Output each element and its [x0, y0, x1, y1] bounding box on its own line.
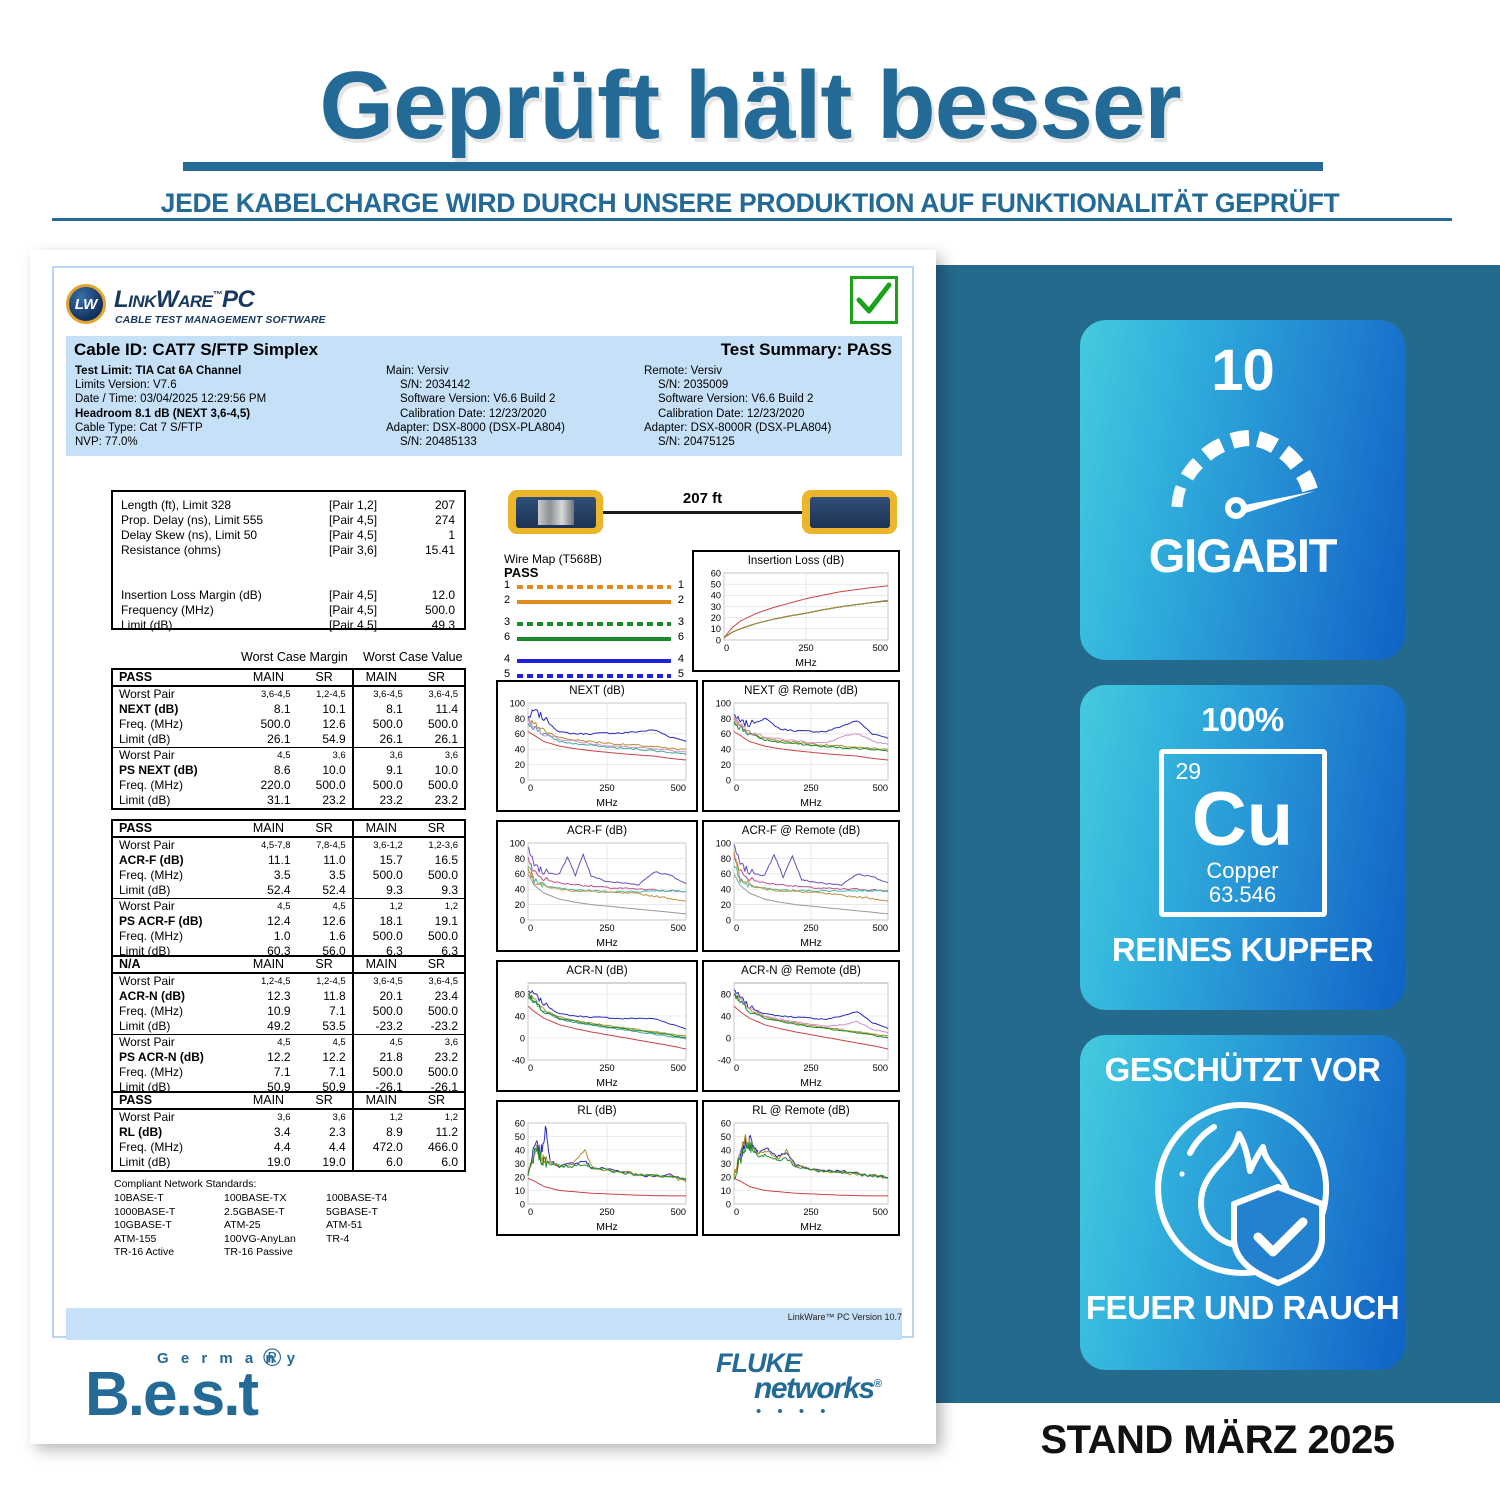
svg-text:40: 40: [515, 885, 525, 895]
col-sr-value: SR: [409, 820, 465, 837]
page-header: Geprüft hält besser JEDE KABELCHARGE WIR…: [0, 0, 1500, 230]
cell: 500.0: [409, 778, 465, 793]
gigabit-label: GIGABIT: [1080, 532, 1405, 579]
svg-text:MHz: MHz: [596, 797, 618, 809]
results-table-acrn: N/AMAINSRMAINSRWorst Pair1,2-4,51,2-4,53…: [111, 955, 466, 1097]
gigabit-value: 10: [1080, 342, 1405, 400]
svg-text:100: 100: [716, 838, 731, 848]
table-row: PS NEXT (dB)8.610.09.110.0: [112, 763, 465, 778]
test-summary-label: Test Summary: PASS: [721, 340, 892, 360]
info-line: Headroom 8.1 dB (NEXT 3,6-4,5): [75, 407, 375, 421]
cell: 26.1: [409, 732, 465, 748]
col-main-value: MAIN: [353, 1092, 409, 1109]
svg-text:MHz: MHz: [795, 657, 817, 669]
svg-text:40: 40: [721, 1011, 731, 1021]
best-wordmark: B.e.s.t: [85, 1364, 257, 1426]
table-row: Worst Pair4,5-7,87,8-4,53,6-1,21,2-3,6: [112, 837, 465, 853]
periodic-element-icon: 29 Cu Copper 63.546: [1159, 749, 1327, 917]
col-main-margin: MAIN: [240, 1092, 296, 1109]
summary-label: Limit (dB): [121, 618, 172, 632]
table-header-row: PASSMAINSRMAINSR: [112, 1092, 465, 1109]
summary-pair: [Pair 4,5]: [329, 618, 377, 632]
cell: 4,5: [297, 899, 353, 915]
summary-row: Length (ft), Limit 328[Pair 1,2]207: [113, 498, 464, 513]
svg-text:40: 40: [515, 1011, 525, 1021]
cell: 3.5: [297, 868, 353, 883]
cell: 500.0: [409, 1065, 465, 1080]
svg-text:20: 20: [515, 760, 525, 770]
svg-text:0: 0: [734, 923, 739, 933]
svg-text:250: 250: [803, 923, 818, 933]
cell: 1.0: [240, 929, 296, 944]
row-label: Worst Pair: [112, 686, 240, 702]
cell: 11.1: [240, 853, 296, 868]
row-label: Limit (dB): [112, 1019, 240, 1035]
results-table-rl: PASSMAINSRMAINSRWorst Pair3,63,61,21,2RL…: [111, 1091, 466, 1172]
fluke-networks-logo: FLUKE networks® • • • •: [708, 1348, 903, 1418]
svg-text:500: 500: [671, 923, 686, 933]
col-main-value: MAIN: [353, 956, 409, 973]
cell: 500.0: [353, 929, 409, 944]
status-badge: PASS: [112, 1092, 240, 1109]
cell: 500.0: [353, 868, 409, 883]
row-label: Freq. (MHz): [112, 1004, 240, 1019]
svg-text:40: 40: [721, 885, 731, 895]
cell: 500.0: [409, 717, 465, 732]
cell: 8.1: [353, 702, 409, 717]
wire-pin-left: 1: [504, 579, 510, 591]
info-line: Adapter: DSX-8000 (DSX-PLA804): [386, 421, 636, 435]
info-line: Software Version: V6.6 Build 2: [386, 392, 636, 406]
info-line: Limits Version: V7.6: [75, 378, 375, 392]
summary-value: 49.3: [393, 618, 455, 632]
svg-text:100: 100: [510, 698, 525, 708]
feature-card-fire[interactable]: GESCHÜTZT VOR FEUER UND RAUCH: [1080, 1035, 1405, 1370]
info-line: S/N: 2034142: [386, 378, 636, 392]
table-row: Worst Pair1,2-4,51,2-4,53,6-4,53,6-4,5: [112, 973, 465, 989]
cell: 8.9: [353, 1125, 409, 1140]
summary-pair: [Pair 4,5]: [329, 603, 377, 617]
wire-gap: [504, 647, 684, 654]
cell: 10.1: [297, 702, 353, 717]
table-row: RL (dB)3.42.38.911.2: [112, 1125, 465, 1140]
cell: 23.2: [409, 793, 465, 809]
row-label: PS NEXT (dB): [112, 763, 240, 778]
cell: 19.0: [240, 1155, 296, 1171]
table-row: Freq. (MHz)500.012.6500.0500.0: [112, 717, 465, 732]
cell: 12.2: [297, 1050, 353, 1065]
cell: 16.5: [409, 853, 465, 868]
cell: 4,5: [297, 1035, 353, 1051]
table-row: ACR-N (dB)12.311.820.123.4: [112, 989, 465, 1004]
svg-text:0: 0: [716, 635, 721, 645]
cell: 3,6: [409, 1035, 465, 1051]
cell: 54.9: [297, 732, 353, 748]
svg-text:0: 0: [726, 915, 731, 925]
copper-percent: 100%: [1080, 701, 1405, 739]
svg-text:20: 20: [515, 900, 525, 910]
col-main-value: MAIN: [353, 820, 409, 837]
cell: 23.2: [297, 793, 353, 809]
table-row: NEXT (dB)8.110.18.111.4: [112, 702, 465, 717]
cable-link-diagram: 207 ft: [502, 490, 902, 538]
info-line: S/N: 20485133: [386, 435, 636, 449]
info-line: Main: Versiv: [386, 364, 636, 378]
cell: 15.7: [353, 853, 409, 868]
col-sr-margin: SR: [297, 1092, 353, 1109]
svg-text:10: 10: [721, 1186, 731, 1196]
cell: 220.0: [240, 778, 296, 793]
test-report-page: LW LINKWARE™PC CABLE TEST MANAGEMENT SOF…: [30, 250, 936, 1444]
wire-pin-right: 2: [678, 594, 684, 606]
cell: 3,6-1,2: [353, 837, 409, 853]
col-sr-value: SR: [409, 1092, 465, 1109]
table-row: Freq. (MHz)3.53.5500.0500.0: [112, 868, 465, 883]
col-main-margin: MAIN: [240, 820, 296, 837]
chart-next: NEXT (dB)0204060801000250500MHz: [496, 680, 698, 812]
svg-text:500: 500: [873, 643, 888, 653]
svg-text:40: 40: [711, 591, 721, 601]
svg-text:-40: -40: [512, 1055, 525, 1065]
svg-text:0: 0: [528, 783, 533, 793]
summary-value: 274: [393, 513, 455, 527]
cell: 11.8: [297, 989, 353, 1004]
cell: 12.6: [297, 914, 353, 929]
measurements-summary-table: Length (ft), Limit 328[Pair 1,2]207Prop.…: [111, 490, 466, 630]
cable-length-label: 207 ft: [603, 490, 802, 507]
cell: 18.1: [353, 914, 409, 929]
standard-item: TR-4: [326, 1233, 349, 1246]
cell: 1,2: [409, 1109, 465, 1125]
summary-row: Delay Skew (ns), Limit 50[Pair 4,5]1: [113, 528, 464, 543]
info-line: Remote: Versiv: [644, 364, 904, 378]
results-table-next: PASSMAINSRMAINSRWorst Pair3,6-4,51,2-4,5…: [111, 668, 466, 810]
col-sr-margin: SR: [297, 820, 353, 837]
standards-row: TR-16 ActiveTR-16 Passive: [114, 1246, 474, 1259]
wire-line: [517, 622, 671, 626]
element-name: Copper: [1164, 858, 1322, 884]
standards-title: Compliant Network Standards:: [114, 1178, 474, 1191]
feature-card-gigabit[interactable]: 10 GIGABIT: [1080, 320, 1405, 660]
wire-map-row: 44: [504, 654, 684, 669]
cell: 4,5-7,8: [240, 837, 296, 853]
worst-case-value-header: Worst Case Value: [363, 650, 463, 664]
row-label: Worst Pair: [112, 973, 240, 989]
wire-map-status: PASS: [504, 565, 684, 580]
svg-text:50: 50: [515, 1132, 525, 1142]
wire-map-title: Wire Map (T568B): [504, 552, 684, 566]
svg-text:0: 0: [726, 1199, 731, 1209]
table-row: Limit (dB)52.452.49.39.3: [112, 883, 465, 899]
stand-date-label: STAND MÄRZ 2025: [935, 1418, 1500, 1463]
svg-text:MHz: MHz: [800, 937, 822, 949]
cell: 9.1: [353, 763, 409, 778]
svg-text:40: 40: [515, 1145, 525, 1155]
wire-pin-right: 3: [678, 616, 684, 628]
svg-text:80: 80: [515, 714, 525, 724]
cell: 26.1: [240, 732, 296, 748]
svg-text:500: 500: [671, 1063, 686, 1073]
table-row: Limit (dB)26.154.926.126.1: [112, 732, 465, 748]
cell: 4,5: [240, 748, 296, 764]
fire-top-label: GESCHÜTZT VOR: [1080, 1051, 1405, 1089]
results-table-acrf: PASSMAINSRMAINSRWorst Pair4,5-7,87,8-4,5…: [111, 819, 466, 961]
cell: 500.0: [409, 1004, 465, 1019]
cell: 8.1: [240, 702, 296, 717]
table-row: PS ACR-N (dB)12.212.221.823.2: [112, 1050, 465, 1065]
info-line: Date / Time: 03/04/2025 12:29:56 PM: [75, 392, 375, 406]
wire-pin-right: 4: [678, 653, 684, 665]
svg-text:80: 80: [515, 854, 525, 864]
feature-card-copper[interactable]: 100% 29 Cu Copper 63.546 REINES KUPFER: [1080, 685, 1405, 1010]
svg-text:250: 250: [599, 1207, 614, 1217]
table-row: Freq. (MHz)220.0500.0500.0500.0: [112, 778, 465, 793]
svg-text:MHz: MHz: [596, 1077, 618, 1089]
cell: 53.5: [297, 1019, 353, 1035]
row-label: Freq. (MHz): [112, 929, 240, 944]
standard-item: 10GBASE-T: [114, 1219, 172, 1232]
standard-item: TR-16 Passive: [224, 1246, 293, 1259]
linkware-wordmark: LINKWARE™PC: [114, 286, 254, 314]
wire-map-row: 33: [504, 617, 684, 632]
svg-text:60: 60: [515, 1118, 525, 1128]
cell: 1,2: [409, 899, 465, 915]
row-label: NEXT (dB): [112, 702, 240, 717]
standard-item: 100VG-AnyLan: [224, 1233, 296, 1246]
svg-text:0: 0: [520, 1199, 525, 1209]
svg-text:0: 0: [528, 1207, 533, 1217]
svg-text:500: 500: [873, 1207, 888, 1217]
cell: 7.1: [297, 1065, 353, 1080]
wire-pin-left: 6: [504, 631, 510, 643]
wire-line: [517, 659, 671, 663]
svg-text:30: 30: [515, 1159, 525, 1169]
svg-text:30: 30: [721, 1159, 731, 1169]
cell: 4.4: [240, 1140, 296, 1155]
cell: 3,6: [297, 748, 353, 764]
cell: 9.3: [409, 883, 465, 899]
cell: 3,6: [297, 1109, 353, 1125]
cell: 11.0: [297, 853, 353, 868]
row-label: Worst Pair: [112, 899, 240, 915]
info-line: Calibration Date: 12/23/2020: [644, 407, 904, 421]
cell: 12.2: [240, 1050, 296, 1065]
info-line: S/N: 2035009: [644, 378, 904, 392]
summary-label: Prop. Delay (ns), Limit 555: [121, 513, 263, 527]
cell: 3.5: [240, 868, 296, 883]
svg-text:MHz: MHz: [800, 797, 822, 809]
wire-pin-right: 6: [678, 631, 684, 643]
svg-text:500: 500: [671, 1207, 686, 1217]
col-sr-value: SR: [409, 956, 465, 973]
cable-tester-main-icon: [508, 490, 603, 534]
row-label: Worst Pair: [112, 1035, 240, 1051]
info-line: S/N: 20475125: [644, 435, 904, 449]
table-row: Freq. (MHz)1.01.6500.0500.0: [112, 929, 465, 944]
row-label: Limit (dB): [112, 793, 240, 809]
cell: 1,2-4,5: [297, 973, 353, 989]
summary-label: Resistance (ohms): [121, 543, 221, 557]
chart-next-remote: NEXT @ Remote (dB)0204060801000250500MHz: [702, 680, 900, 812]
standards-row: 1000BASE-T2.5GBASE-T5GBASE-T: [114, 1206, 474, 1219]
summary-label: Frequency (MHz): [121, 603, 214, 617]
row-label: Worst Pair: [112, 748, 240, 764]
svg-text:MHz: MHz: [800, 1077, 822, 1089]
wire-pin-left: 3: [504, 616, 510, 628]
cell: 19.0: [297, 1155, 353, 1171]
wire-pin-right: 1: [678, 579, 684, 591]
table-row: Worst Pair3,63,61,21,2: [112, 1109, 465, 1125]
cable-line: [603, 511, 802, 514]
cell: 3,6: [409, 748, 465, 764]
svg-text:10: 10: [711, 624, 721, 634]
svg-text:0: 0: [734, 783, 739, 793]
info-line: Software Version: V6.6 Build 2: [644, 392, 904, 406]
svg-text:60: 60: [711, 568, 721, 578]
cell: 23.2: [353, 793, 409, 809]
lw-badge-icon: LW: [66, 284, 106, 324]
summary-row: Limit (dB)[Pair 4,5]49.3: [113, 618, 464, 633]
svg-text:60: 60: [515, 869, 525, 879]
cell: 12.6: [297, 717, 353, 732]
cell: 500.0: [353, 778, 409, 793]
chart-acr-f: ACR-F (dB)0204060801000250500MHz: [496, 820, 698, 952]
cell: 11.4: [409, 702, 465, 717]
cell: 3,6-4,5: [353, 973, 409, 989]
cell: 4.4: [297, 1140, 353, 1155]
svg-text:60: 60: [721, 869, 731, 879]
cell: 49.2: [240, 1019, 296, 1035]
summary-row: Insertion Loss Margin (dB)[Pair 4,5]12.0: [113, 588, 464, 603]
summary-pair: [Pair 3,6]: [329, 543, 377, 557]
summary-pair: [Pair 4,5]: [329, 528, 377, 542]
svg-text:0: 0: [724, 643, 729, 653]
summary-value: 12.0: [393, 588, 455, 602]
svg-text:10: 10: [515, 1186, 525, 1196]
wire-map-row: 66: [504, 632, 684, 647]
svg-text:100: 100: [716, 698, 731, 708]
cell: 26.1: [353, 732, 409, 748]
standards-row: 10GBASE-TATM-25ATM-51: [114, 1219, 474, 1232]
row-label: Worst Pair: [112, 1109, 240, 1125]
svg-text:40: 40: [515, 745, 525, 755]
table-row: Worst Pair4,53,63,63,6: [112, 748, 465, 764]
row-label: Limit (dB): [112, 883, 240, 899]
standard-item: 5GBASE-T: [326, 1206, 378, 1219]
chart-acr-n-remote: ACR-N @ Remote (dB)-40040800250500MHz: [702, 960, 900, 1092]
col-main-margin: MAIN: [240, 669, 296, 686]
standards-row: ATM-155100VG-AnyLanTR-4: [114, 1233, 474, 1246]
cell: 2.3: [297, 1125, 353, 1140]
cell: 9.3: [353, 883, 409, 899]
row-label: Limit (dB): [112, 732, 240, 748]
standard-item: 1000BASE-T: [114, 1206, 175, 1219]
svg-text:500: 500: [873, 923, 888, 933]
table-row: Limit (dB)19.019.06.06.0: [112, 1155, 465, 1171]
fluke-dots-icon: • • • •: [756, 1403, 832, 1420]
wire-line: [517, 600, 671, 604]
cell: 23.2: [409, 1050, 465, 1065]
cell: 4,5: [240, 1035, 296, 1051]
summary-label: Delay Skew (ns), Limit 50: [121, 528, 257, 542]
svg-text:500: 500: [873, 783, 888, 793]
cell: 3,6-4,5: [409, 973, 465, 989]
info-line: Test Limit: TIA Cat 6A Channel: [75, 364, 375, 378]
standard-item: 2.5GBASE-T: [224, 1206, 285, 1219]
cable-id-label: Cable ID: CAT7 S/FTP Simplex: [74, 340, 318, 360]
cell: 6.0: [353, 1155, 409, 1171]
copper-label: REINES KUPFER: [1080, 931, 1405, 969]
report-inner-frame: LW LINKWARE™PC CABLE TEST MANAGEMENT SOF…: [52, 266, 914, 1338]
cell: 8.6: [240, 763, 296, 778]
standard-item: ATM-155: [114, 1233, 156, 1246]
info-line: NVP: 77.0%: [75, 435, 375, 449]
lw-n2: INK: [128, 292, 156, 311]
row-label: Freq. (MHz): [112, 1065, 240, 1080]
speed-gauge-icon: [1080, 400, 1405, 532]
summary-value: 15.41: [393, 543, 455, 557]
svg-text:60: 60: [515, 729, 525, 739]
info-column-left: Test Limit: TIA Cat 6A ChannelLimits Ver…: [75, 364, 375, 449]
svg-text:0: 0: [520, 1033, 525, 1043]
page-subtitle: JEDE KABELCHARGE WIRD DURCH UNSERE PRODU…: [0, 188, 1500, 219]
svg-text:0: 0: [528, 1063, 533, 1073]
cell: 1,2-4,5: [297, 686, 353, 702]
cell: 466.0: [409, 1140, 465, 1155]
svg-text:80: 80: [721, 854, 731, 864]
cell: 10.0: [409, 763, 465, 778]
cell: 52.4: [240, 883, 296, 899]
registered-trademark-icon: ®: [263, 1344, 281, 1373]
summary-pair: [Pair 4,5]: [329, 588, 377, 602]
table-row: Worst Pair3,6-4,51,2-4,53,6-4,53,6-4,5: [112, 686, 465, 702]
cell: 1,2-4,5: [240, 973, 296, 989]
cell: 500.0: [409, 929, 465, 944]
standard-item: 10BASE-T: [114, 1192, 164, 1205]
summary-label: Length (ft), Limit 328: [121, 498, 231, 512]
row-label: Freq. (MHz): [112, 778, 240, 793]
svg-text:MHz: MHz: [800, 1221, 822, 1233]
standard-item: ATM-51: [326, 1219, 363, 1232]
svg-text:250: 250: [803, 783, 818, 793]
chart-acr-f-remote: ACR-F @ Remote (dB)0204060801000250500MH…: [702, 820, 900, 952]
svg-text:500: 500: [671, 783, 686, 793]
lw-n4: ARE: [178, 292, 212, 311]
svg-text:80: 80: [515, 989, 525, 999]
row-label: PS ACR-F (dB): [112, 914, 240, 929]
cell: 1,2-3,6: [409, 837, 465, 853]
cell: 500.0: [297, 778, 353, 793]
wire-pin-left: 5: [504, 668, 510, 680]
svg-text:250: 250: [599, 923, 614, 933]
col-sr-margin: SR: [297, 956, 353, 973]
subtitle-underline: [52, 218, 1452, 221]
cable-tester-remote-icon: [802, 490, 897, 534]
svg-text:250: 250: [803, 1207, 818, 1217]
cell: 1.6: [297, 929, 353, 944]
svg-text:80: 80: [721, 714, 731, 724]
svg-text:20: 20: [721, 1172, 731, 1182]
cell: 19.1: [409, 914, 465, 929]
cell: 3,6-4,5: [353, 686, 409, 702]
wire-map-row: 22: [504, 595, 684, 610]
status-badge: PASS: [112, 820, 240, 837]
info-line: Calibration Date: 12/23/2020: [386, 407, 636, 421]
svg-text:40: 40: [721, 1145, 731, 1155]
summary-row: Resistance (ohms)[Pair 3,6]15.41: [113, 543, 464, 558]
page-title: Geprüft hält besser: [0, 58, 1500, 154]
svg-text:0: 0: [520, 915, 525, 925]
